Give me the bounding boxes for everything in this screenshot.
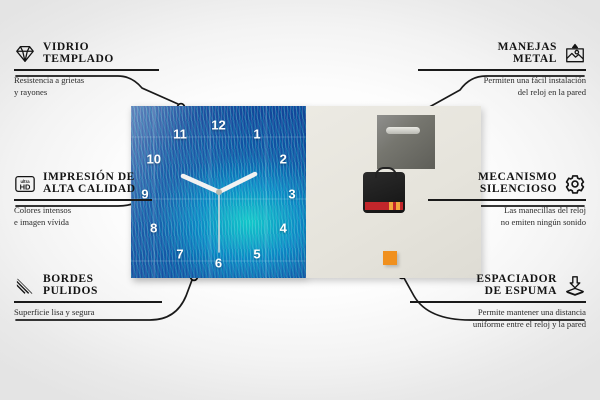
- feature-desc-line1: Las manecillas del reloj: [428, 204, 586, 216]
- feature-rule: [428, 199, 586, 201]
- feature-title-line2: ALTA CALIDAD: [43, 184, 136, 196]
- diamond-icon: [14, 43, 36, 65]
- gear-icon: [564, 173, 586, 195]
- feature-bordes-pulidos: BORDES PULIDOS Superficie lisa y segura: [14, 274, 164, 318]
- mechanism-label-strip: [365, 202, 403, 210]
- clock-mechanism: [363, 172, 405, 213]
- feature-desc-line1: Colores intensos: [14, 204, 164, 216]
- feature-espaciador-de-espuma: ESPACIADOR DE ESPUMA Permite mantener un…: [410, 274, 586, 330]
- infographic-canvas: 12 1 2 3 4 5 6 7 8 9 10 11: [0, 0, 600, 400]
- feature-title-line2: TEMPLADO: [43, 54, 114, 66]
- feature-title-line2: DE ESPUMA: [476, 286, 557, 298]
- metal-hanger-plate: [377, 115, 435, 169]
- feature-title-line2: METAL: [498, 54, 557, 66]
- feature-mecanismo-silencioso: MECANISMO SILENCIOSO Las manecillas del …: [428, 172, 586, 228]
- feature-impresion-alta-calidad: ultra HD IMPRESIÓN DE ALTA CALIDAD Color…: [14, 172, 164, 228]
- feature-desc-line1: Permiten una fácil instalación: [418, 74, 586, 86]
- ultra-hd-icon: ultra HD: [14, 173, 36, 195]
- feature-desc-line1: Resistencia a grietas: [14, 74, 164, 86]
- feature-desc-line2: no emiten ningún sonido: [428, 216, 586, 228]
- feature-rule: [410, 301, 586, 303]
- feature-desc-line2: del reloj en la pared: [418, 86, 586, 98]
- hands-hub: [216, 189, 222, 195]
- feature-vidrio-templado: VIDRIO TEMPLADO Resistencia a grietas y …: [14, 42, 164, 98]
- picture-hanger-icon: [564, 43, 586, 65]
- mechanism-bail: [375, 167, 397, 178]
- feature-manejas-metal: MANEJAS METAL Permiten una fácil instala…: [418, 42, 586, 98]
- feature-title-line2: PULIDOS: [43, 286, 98, 298]
- svg-text:HD: HD: [20, 183, 31, 192]
- feature-desc-line1: Superficie lisa y segura: [14, 306, 164, 318]
- feature-desc-line1: Permite mantener una distancia: [410, 306, 586, 318]
- minute-hand: [219, 174, 255, 192]
- hour-hand: [183, 176, 219, 192]
- feature-rule: [14, 69, 159, 71]
- feature-desc-line2: y rayones: [14, 86, 164, 98]
- foam-spacer: [383, 251, 397, 265]
- feature-rule: [14, 199, 152, 201]
- arrow-onto-pad-icon: [564, 275, 586, 297]
- feature-rule: [418, 69, 586, 71]
- hanger-slot: [386, 127, 420, 134]
- hatched-triangle-icon: [14, 275, 36, 297]
- feature-desc-line2: uniforme entre el reloj y la pared: [410, 318, 586, 330]
- feature-rule: [14, 301, 162, 303]
- feature-desc-line2: e imagen vívida: [14, 216, 164, 228]
- feature-title-line2: SILENCIOSO: [478, 184, 557, 196]
